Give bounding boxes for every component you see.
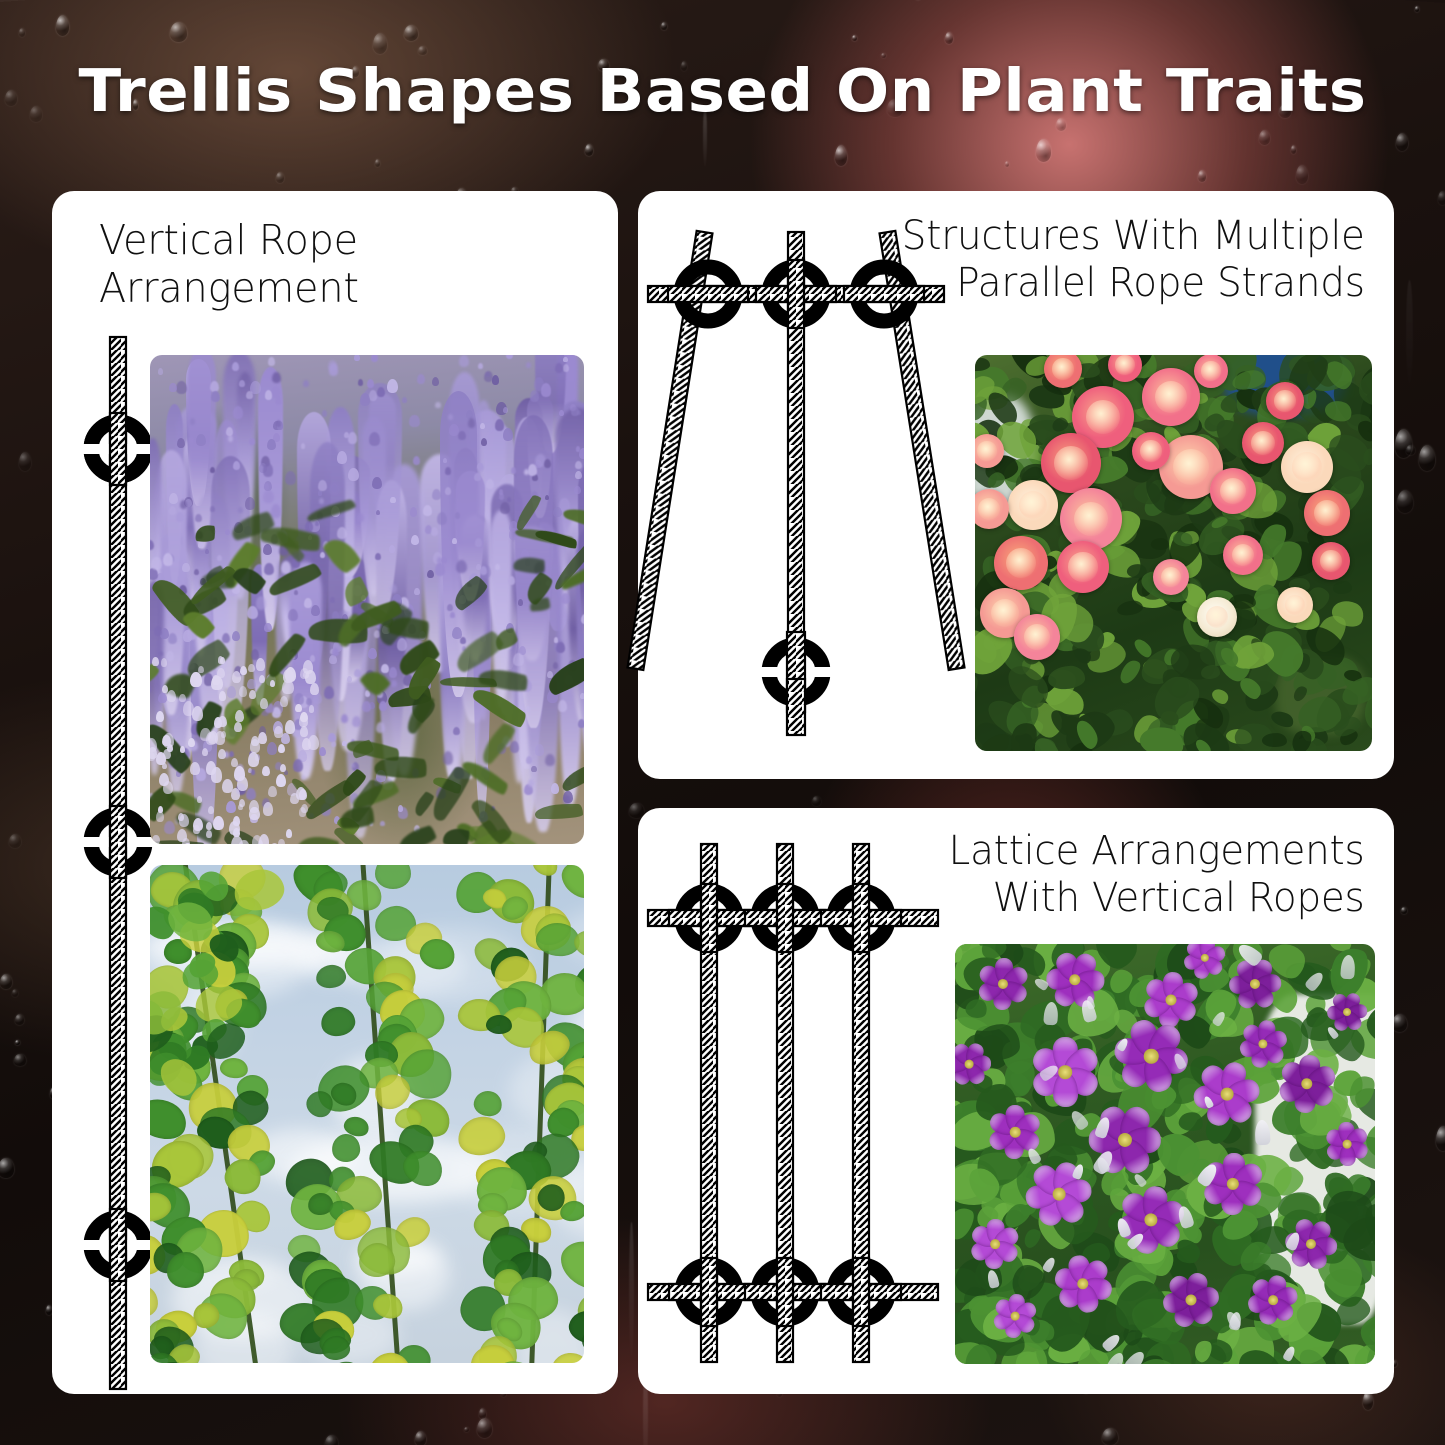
wisteria-pale-floret (295, 704, 302, 713)
wisteria-floret (427, 570, 433, 578)
wisteria-pale-floret (179, 694, 185, 702)
water-droplet (1198, 170, 1206, 182)
wisteria-floret (526, 362, 531, 369)
wisteria-floret (245, 497, 255, 510)
wisteria-floret (151, 557, 162, 570)
wisteria-pale-floret (161, 658, 168, 666)
clematis-flower (1198, 1065, 1256, 1123)
rose-bloom (1014, 614, 1060, 660)
wisteria-pale-floret (211, 676, 222, 691)
twisted-rope-icon-tail (787, 679, 805, 735)
wisteria-pale-floret (206, 822, 212, 830)
wisteria-floret (285, 471, 296, 485)
clematis-center (1268, 1295, 1278, 1305)
wisteria-floret (455, 512, 460, 518)
lattice-grid-diagram (648, 838, 938, 1368)
wisteria-pale-floret (249, 807, 259, 820)
wisteria-pale-floret (290, 793, 299, 804)
wisteria-floret (541, 383, 552, 397)
rope-knot-ring-icon-2 (80, 806, 156, 878)
rose-leaf (1332, 581, 1352, 594)
wisteria-floret (354, 669, 361, 678)
clematis-flower (1232, 961, 1278, 1007)
wisteria-pale-floret (262, 766, 270, 776)
wisteria-floret (411, 535, 419, 545)
water-droplet (170, 22, 187, 42)
climbing-vine-photo (150, 865, 584, 1363)
wisteria-floret (417, 374, 426, 385)
clematis-center (965, 1060, 974, 1069)
wisteria-floret (306, 698, 311, 705)
wisteria-floret (423, 505, 432, 516)
wisteria-floret (263, 544, 272, 555)
wisteria-floret (332, 648, 339, 656)
wisteria-floret (217, 555, 222, 561)
wisteria-floret (238, 507, 243, 513)
wisteria-floret (267, 742, 278, 755)
wisteria-pale-floret (276, 774, 286, 787)
panel-vertical-rope: Vertical Rope Arrangement (52, 191, 618, 1394)
water-droplet (1415, 6, 1420, 12)
wisteria-floret (499, 493, 505, 500)
wisteria-floret (379, 701, 387, 711)
wisteria-floret (337, 527, 347, 539)
wisteria-floret (163, 553, 173, 566)
wisteria-floret (263, 463, 274, 476)
water-droplet (1436, 1126, 1445, 1151)
rope-knot-ring-icon-br-4 (669, 1258, 749, 1326)
wisteria-floret (180, 500, 187, 509)
wisteria-pale-floret (286, 829, 292, 837)
wisteria-floret (445, 467, 451, 474)
wisteria-floret (158, 368, 164, 375)
wisteria-floret (486, 479, 495, 490)
wisteria-pale-floret (163, 749, 171, 759)
water-streak (1406, 280, 1413, 384)
wisteria-pale-floret (193, 818, 203, 831)
clematis-center (1186, 1295, 1197, 1306)
wisteria-floret (481, 438, 487, 446)
wisteria-floret (368, 648, 377, 659)
wisteria-pale-floret (248, 664, 255, 673)
wisteria-pale-floret (263, 802, 274, 816)
wisteria-floret (168, 633, 177, 644)
wisteria-pale-floret (259, 834, 269, 844)
wisteria-floret (311, 605, 320, 616)
wisteria-pale-floret (206, 761, 217, 775)
wisteria-pale-floret (237, 776, 249, 791)
wisteria-pale-floret (259, 675, 265, 683)
water-droplet (1005, 161, 1010, 167)
wisteria-floret (580, 693, 584, 700)
wisteria-floret (579, 448, 584, 459)
wisteria-floret (210, 381, 219, 392)
wisteria-floret (553, 662, 558, 669)
clematis-center (1058, 1065, 1072, 1079)
wisteria-floret (226, 427, 233, 436)
wisteria-floret (480, 566, 487, 575)
wisteria-floret (195, 514, 202, 522)
wisteria-floret (232, 631, 240, 641)
clematis-center (1053, 1188, 1066, 1201)
wisteria-floret (246, 788, 256, 800)
wisteria-floret (169, 506, 176, 515)
clematis-flower (955, 1044, 989, 1084)
wisteria-floret (518, 599, 523, 606)
wisteria-floret (380, 821, 385, 827)
rose-bloom (1142, 368, 1200, 426)
wisteria-floret (458, 431, 466, 441)
clematis-flower (1327, 1124, 1367, 1164)
converging-rope-strands-diagram (646, 224, 946, 742)
wisteria-floret (367, 379, 374, 388)
wisteria-pale-floret (202, 748, 208, 756)
wisteria-floret (315, 521, 319, 526)
wisteria-floret (413, 456, 421, 466)
wisteria-floret (322, 410, 328, 417)
wisteria-floret (510, 741, 519, 753)
clematis-flower (980, 961, 1026, 1007)
wisteria-floret (226, 801, 236, 813)
wisteria-pale-floret (249, 690, 256, 699)
wisteria-floret (390, 584, 397, 593)
wisteria-floret (528, 464, 537, 475)
wisteria-floret (288, 609, 298, 621)
wisteria-floret (495, 419, 505, 431)
wisteria-floret (304, 598, 312, 608)
wisteria-pale-floret (268, 786, 277, 798)
wisteria-floret (443, 751, 454, 765)
rope-knot-ring-icon-1 (80, 413, 156, 485)
wisteria-floret (362, 701, 371, 712)
wisteria-floret (371, 355, 378, 362)
wisteria-floret (177, 438, 186, 449)
rose-bloom (1304, 490, 1350, 536)
wisteria-floret (225, 529, 230, 536)
wisteria-floret (484, 371, 493, 383)
water-droplet (852, 35, 857, 41)
wisteria-pale-floret (240, 666, 247, 675)
wisteria-floret (264, 623, 272, 632)
wisteria-floret (205, 549, 209, 554)
wisteria-floret (318, 480, 327, 491)
wisteria-floret (441, 557, 446, 564)
rose-bloom (1153, 559, 1189, 595)
rose-bloom (1194, 355, 1228, 388)
wisteria-floret (376, 722, 385, 734)
wisteria-floret (387, 379, 398, 393)
clematis-flower (1242, 1023, 1284, 1065)
water-droplet (1392, 1014, 1407, 1032)
wisteria-pale-floret (229, 821, 240, 835)
wisteria-floret (437, 512, 447, 525)
wisteria-floret (459, 355, 469, 367)
wisteria-pale-floret (239, 686, 248, 697)
wisteria-pale-floret (260, 698, 269, 709)
wisteria-floret (265, 390, 273, 400)
wisteria-floret (402, 397, 407, 403)
wisteria-floret (558, 700, 568, 712)
rose-bloom (994, 536, 1048, 590)
water-droplet (1296, 165, 1308, 184)
water-droplet (276, 172, 284, 183)
wisteria-pale-floret (310, 683, 320, 695)
wisteria-floret (328, 733, 336, 742)
wisteria-floret (166, 651, 174, 661)
wisteria-pale-floret (280, 696, 289, 708)
page-title: Trellis Shapes Based On Plant Traits (0, 56, 1445, 125)
wisteria-floret (530, 390, 539, 401)
wisteria-floret (578, 719, 584, 728)
wisteria-pale-floret (213, 816, 224, 830)
wisteria-floret (526, 756, 533, 764)
rose-bloom (1210, 468, 1256, 514)
wisteria-floret (477, 463, 482, 470)
water-droplet (1419, 445, 1436, 470)
wisteria-floret (351, 763, 355, 768)
wisteria-floret (188, 437, 194, 444)
clematis-flower (995, 1296, 1035, 1336)
wisteria-floret (190, 418, 196, 425)
wisteria-floret (344, 432, 349, 438)
rose-bloom (1041, 433, 1101, 493)
water-droplet (418, 46, 426, 55)
rope-knot-ring-icon-br-2 (745, 884, 825, 952)
water-droplet (15, 1014, 24, 1025)
wisteria-pale-floret (278, 839, 284, 845)
wisteria-pale-floret (256, 658, 266, 671)
wisteria-floret (348, 468, 359, 482)
wisteria-floret (460, 637, 465, 644)
water-droplet (14, 1054, 25, 1066)
wisteria-floret (414, 588, 420, 595)
wisteria-pale-floret (190, 762, 200, 775)
wisteria-floret (348, 432, 357, 443)
water-droplet (945, 32, 953, 44)
wisteria-floret (435, 563, 446, 576)
water-droplet (19, 452, 31, 471)
water-droplet (19, 28, 25, 37)
wisteria-pale-floret (150, 752, 155, 761)
rose-bloom-white (1197, 597, 1237, 637)
clematis-center (1144, 1049, 1159, 1064)
water-droplet (1438, 191, 1445, 205)
water-droplet (1259, 130, 1270, 145)
wisteria-floret (575, 461, 582, 470)
wisteria-floret (301, 775, 306, 781)
wisteria-pale-floret (274, 726, 283, 738)
rose-bloom (1132, 432, 1170, 470)
wisteria-floret (508, 576, 515, 585)
rope-knot-ring-icon-br-1 (669, 884, 749, 952)
wisteria-floret (450, 612, 455, 618)
wisteria-floret (476, 564, 481, 571)
wisteria-floret (347, 676, 352, 683)
clematis-flower (1057, 1258, 1109, 1310)
wisteria-floret (293, 759, 304, 772)
panel-lattice-vertical-ropes: Lattice Arrangements With Vertical Ropes (638, 808, 1394, 1394)
wisteria-pale-floret (234, 722, 242, 732)
rose-bloom (1008, 480, 1058, 530)
wisteria-pale-floret (300, 712, 308, 722)
wisteria-floret (229, 751, 234, 757)
wisteria-floret (267, 439, 276, 450)
wisteria-floret (176, 512, 184, 522)
clematis-flower (1049, 954, 1101, 1006)
wisteria-floret (329, 363, 339, 375)
wisteria-pale-floret (222, 779, 233, 793)
wisteria-pale-floret (188, 738, 195, 747)
wisteria-floret (447, 604, 453, 611)
wisteria-floret (194, 569, 199, 575)
rope-knot-ring-icon-br-6 (821, 1258, 901, 1326)
wisteria-pale-floret (300, 726, 308, 737)
wisteria-floret (263, 490, 274, 504)
wisteria-pale-floret (208, 806, 214, 814)
wisteria-floret (511, 467, 516, 474)
clematis-flower (1251, 1278, 1295, 1322)
wisteria-floret (268, 357, 275, 366)
wisteria-floret (500, 502, 510, 515)
wisteria-floret (409, 415, 419, 428)
wisteria-pale-floret (183, 701, 194, 715)
water-droplet (404, 25, 419, 42)
water-droplet (1406, 445, 1415, 455)
wisteria-floret (357, 513, 364, 522)
wisteria-pale-floret (232, 671, 241, 683)
wisteria-floret (456, 560, 467, 573)
wisteria-floret (324, 686, 334, 698)
rose-leaf (1150, 537, 1169, 550)
wisteria-floret (581, 614, 584, 624)
rose-bloom (1281, 441, 1333, 493)
water-droplet (1102, 1428, 1119, 1445)
wisteria-floret (247, 679, 256, 690)
water-droplet (812, 796, 821, 806)
wisteria-floret (337, 451, 347, 464)
panel-title-lattice-vertical-ropes: Lattice Arrangements With Vertical Ropes (885, 828, 1364, 922)
clematis-flower (1146, 975, 1196, 1025)
wisteria-floret (233, 406, 243, 419)
clematis-photo (955, 944, 1375, 1364)
wisteria-floret (495, 564, 500, 570)
wisteria-floret (276, 420, 281, 427)
vine-leaf (167, 1252, 203, 1288)
clematis-center (1221, 1088, 1234, 1101)
wisteria-pale-floret (248, 752, 260, 768)
wisteria-floret (432, 489, 441, 500)
panel-parallel-rope-strands: Structures With Multiple Parallel Rope S… (638, 191, 1394, 779)
wisteria-floret (249, 438, 255, 445)
water-droplet (1401, 907, 1408, 914)
wisteria-floret (196, 434, 206, 446)
wisteria-floret (551, 783, 560, 794)
wisteria-floret (410, 507, 418, 517)
wisteria-pale-floret (280, 764, 286, 772)
rose-bloom (1266, 382, 1304, 420)
water-droplet (0, 974, 12, 990)
rose-bloom (1312, 542, 1350, 580)
wisteria-floret (272, 372, 281, 383)
water-droplet (464, 1427, 469, 1432)
clematis-flower (1281, 1058, 1333, 1110)
wisteria-floret (264, 563, 274, 575)
wisteria-floret (507, 497, 512, 503)
wisteria-floret (453, 727, 460, 736)
wisteria-pale-floret (190, 672, 202, 687)
wisteria-floret (251, 769, 255, 774)
wisteria-pale-floret (220, 657, 226, 664)
wisteria-floret (435, 402, 441, 409)
wisteria-floret (301, 443, 305, 448)
wisteria-floret (556, 642, 565, 653)
wisteria-pale-floret (206, 830, 213, 839)
wisteria-pale-floret (235, 710, 244, 722)
wisteria-floret (431, 527, 438, 536)
wisteria-floret (528, 779, 534, 787)
wisteria-floret (164, 821, 175, 834)
clematis-center (1010, 1127, 1021, 1138)
wisteria-floret (182, 563, 189, 572)
wisteria-floret (553, 507, 561, 517)
wisteria-pale-floret (198, 666, 204, 673)
wisteria-floret (210, 506, 215, 512)
wisteria-floret (381, 664, 389, 674)
water-droplet (375, 159, 380, 167)
rose-bloom (1277, 587, 1313, 623)
wisteria-floret (246, 391, 253, 399)
wisteria-floret (377, 387, 385, 397)
wisteria-pale-floret (299, 807, 307, 817)
wisteria-pale-floret (308, 735, 320, 750)
clematis-flower (1186, 944, 1224, 977)
wisteria-floret (319, 498, 324, 504)
wisteria-floret (563, 364, 570, 372)
wisteria-floret (452, 538, 457, 544)
water-droplet (1036, 139, 1051, 162)
panel-title-parallel-rope-strands: Structures With Multiple Parallel Rope S… (895, 213, 1364, 307)
wisteria-pale-floret (219, 691, 226, 701)
wisteria-floret (169, 493, 178, 505)
wisteria-floret (352, 716, 361, 728)
water-droplet (1291, 145, 1296, 154)
wisteria-floret (535, 744, 545, 756)
rope-knot-ring-icon-3 (80, 1209, 156, 1281)
wisteria-pale-floret (283, 669, 294, 683)
rope-knot-ring-icon-br-5 (745, 1258, 825, 1326)
wisteria-floret (169, 383, 177, 393)
wisteria-floret (468, 418, 476, 428)
wisteria-floret (575, 471, 582, 479)
wisteria-floret (319, 747, 326, 756)
wisteria-floret (391, 680, 397, 687)
wisteria-floret (239, 380, 245, 387)
wisteria-floret (559, 410, 564, 416)
rope-knot-ring-icon-tr-2 (756, 260, 836, 328)
wisteria-floret (303, 380, 309, 387)
wisteria-floret (176, 381, 187, 394)
clematis-center (1011, 1312, 1020, 1321)
wisteria-floret (503, 428, 514, 441)
clematis-bud (1043, 1002, 1058, 1026)
clematis-flower (1329, 994, 1365, 1030)
wisteria-floret (330, 597, 335, 603)
wisteria-floret (563, 357, 568, 363)
wisteria-floret (531, 766, 536, 773)
wisteria-floret (526, 706, 531, 712)
wisteria-floret (354, 355, 359, 361)
wisteria-floret (211, 391, 220, 403)
